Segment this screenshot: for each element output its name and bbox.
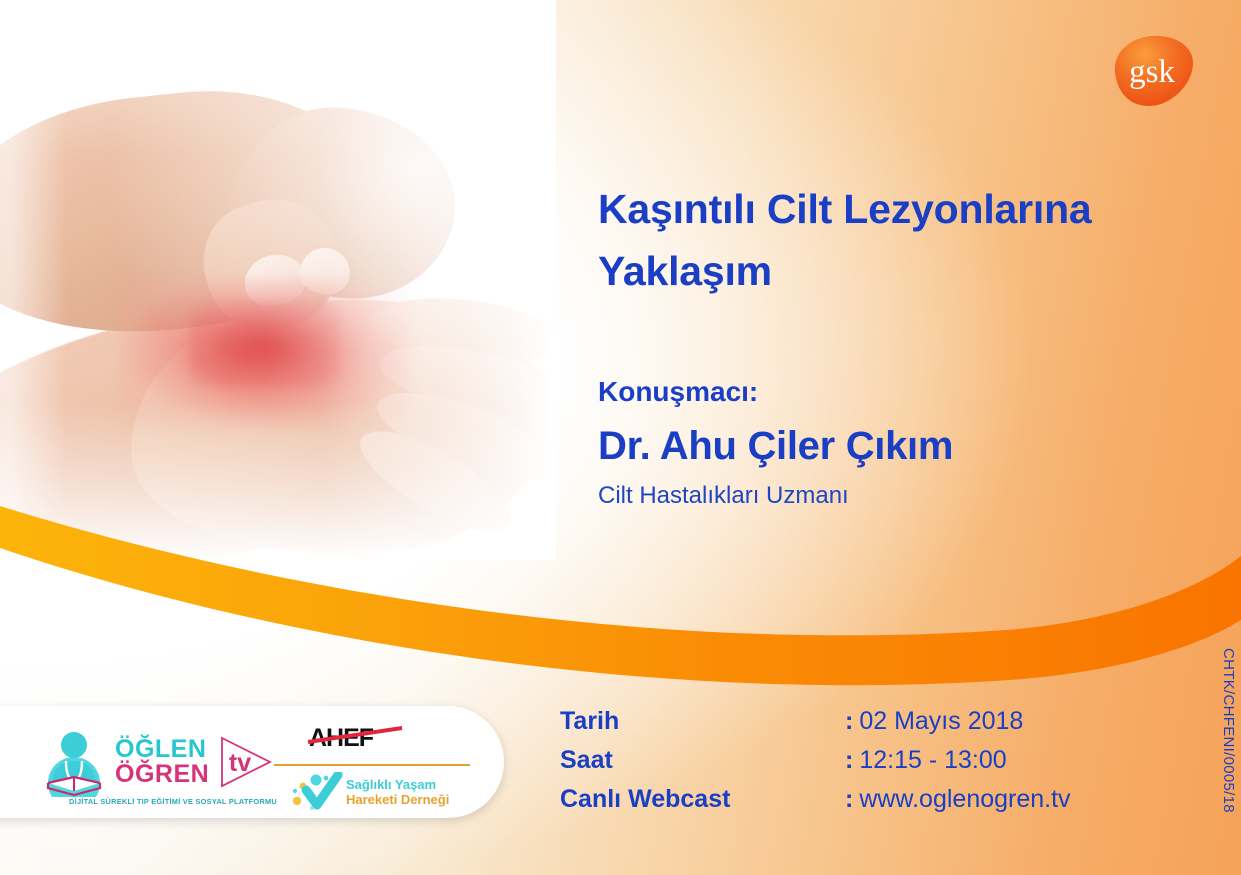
syhd-line-2: Hareketi Derneği [346, 792, 449, 807]
photo-fade-overlay [0, 0, 556, 560]
speaker-label: Konuşmacı: [598, 303, 1218, 409]
detail-value-time: :12:15 - 13:00 [845, 745, 1007, 775]
divider-rule [274, 764, 470, 766]
speaker-name: Dr. Ahu Çiler Çıkım [598, 408, 1218, 470]
webinar-banner: gsk Kaşıntılı Cilt Lezyonlarına Yaklaşım… [0, 0, 1241, 875]
detail-colon: : [845, 785, 853, 813]
saglikli-yasam-hareketi-dernegi-logo[interactable]: Sağlıklı Yaşam Hareketi Derneği [286, 772, 472, 812]
tv-play-icon: tv [216, 735, 274, 789]
hand-scratching-photo [0, 0, 556, 560]
reference-code: CHTK/CHFENI/0005/18 [1220, 648, 1237, 813]
detail-value-date: :02 Mayıs 2018 [845, 706, 1023, 736]
gsk-logo-text: gsk [1129, 54, 1175, 90]
event-details: Tarih :02 Mayıs 2018 Saat :12:15 - 13:00… [560, 706, 1071, 823]
gsk-logo: gsk [1105, 32, 1197, 110]
syhd-line-1: Sağlıklı Yaşam [346, 777, 436, 792]
sponsor-logo-card: ÖĞLEN ÖĞREN tv DİJİTAL SÜREKLİ TIP EĞİTİ… [0, 706, 504, 818]
speaker-title: Cilt Hastalıkları Uzmanı [598, 470, 1218, 511]
doctor-with-book-icon [42, 727, 106, 797]
detail-value-webcast[interactable]: :www.oglenogren.tv [845, 784, 1071, 814]
detail-date-text: 02 Mayıs 2018 [859, 707, 1023, 735]
detail-row-webcast: Canlı Webcast :www.oglenogren.tv [560, 784, 1071, 823]
detail-row-time: Saat :12:15 - 13:00 [560, 745, 1071, 784]
ahef-logo[interactable]: AHEF [306, 720, 418, 754]
detail-colon: : [845, 746, 853, 774]
tv-label: tv [229, 749, 251, 777]
partner-logos: AHEF Sağlıklı Yaşam Hareketi Derneği [292, 714, 470, 810]
webcast-url-link[interactable]: www.oglenogren.tv [859, 785, 1070, 813]
detail-row-date: Tarih :02 Mayıs 2018 [560, 706, 1071, 745]
page-title: Kaşıntılı Cilt Lezyonlarına Yaklaşım [598, 178, 1218, 303]
logo-word-ogren: ÖĞREN [115, 762, 209, 788]
detail-label-time: Saat [560, 745, 845, 775]
logo-word-oglen: ÖĞLEN [115, 737, 209, 763]
detail-label-webcast: Canlı Webcast [560, 784, 845, 814]
title-line-2: Yaklaşım [598, 248, 772, 294]
title-line-1: Kaşıntılı Cilt Lezyonlarına [598, 186, 1092, 232]
logo-tagline: DİJİTAL SÜREKLİ TIP EĞİTİMİ VE SOSYAL PL… [42, 797, 304, 806]
oglen-ogren-wordmark: ÖĞLEN ÖĞREN tv [115, 735, 274, 789]
detail-colon: : [845, 707, 853, 735]
detail-time-text: 12:15 - 13:00 [859, 746, 1006, 774]
main-content: Kaşıntılı Cilt Lezyonlarına Yaklaşım Kon… [598, 178, 1218, 511]
detail-label-date: Tarih [560, 706, 845, 736]
